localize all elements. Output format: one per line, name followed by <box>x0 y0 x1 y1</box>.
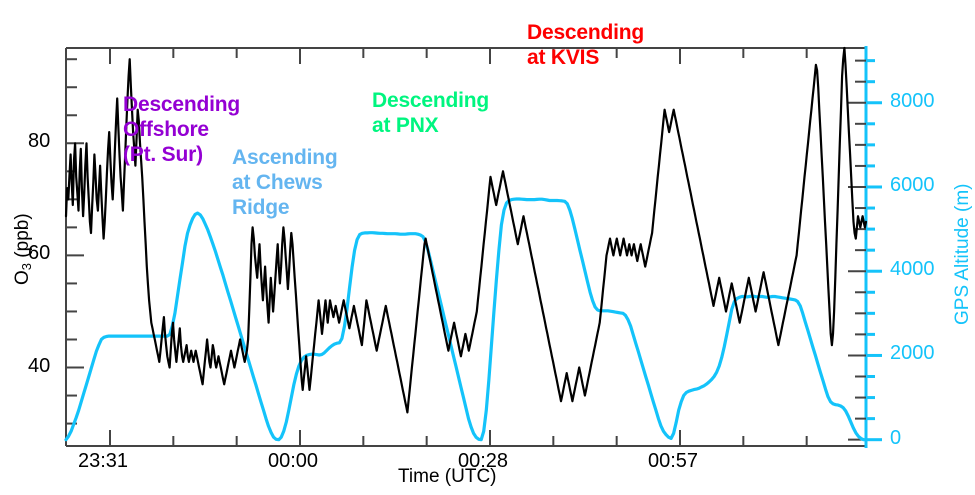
chart-figure: Descending Offshore (Pt. Sur) Ascending … <box>0 0 975 495</box>
y-axis-ticks-left <box>66 59 84 423</box>
y-tick-label-left: 40 <box>28 355 50 378</box>
y-tick-label-right: 0 <box>890 427 901 450</box>
annotation-descending-offshore: Descending Offshore (Pt. Sur) <box>123 92 240 167</box>
y-axis-title-right: GPS Altitude (m) <box>952 184 974 326</box>
x-tick-label: 00:00 <box>268 450 318 473</box>
x-tick-label: 23:31 <box>78 450 128 473</box>
chart-canvas <box>0 0 975 495</box>
y-tick-label-right: 8000 <box>890 90 935 113</box>
x-tick-label: 00:28 <box>458 450 508 473</box>
y-tick-label-left: 80 <box>28 130 50 153</box>
y-axis-title-left-text: O <box>12 270 33 285</box>
x-tick-label: 00:57 <box>648 450 698 473</box>
annotation-ascending-chews-ridge: Ascending at Chews Ridge <box>232 145 338 220</box>
y-tick-label-right: 6000 <box>890 174 935 197</box>
series-gps-altitude <box>66 199 866 440</box>
annotation-descending-kvis: Descending at KVIS <box>527 20 644 70</box>
y-tick-label-right: 4000 <box>890 258 935 281</box>
y-tick-label-right: 2000 <box>890 342 935 365</box>
annotation-descending-pnx: Descending at PNX <box>372 88 489 138</box>
y-tick-label-left: 60 <box>28 242 50 265</box>
